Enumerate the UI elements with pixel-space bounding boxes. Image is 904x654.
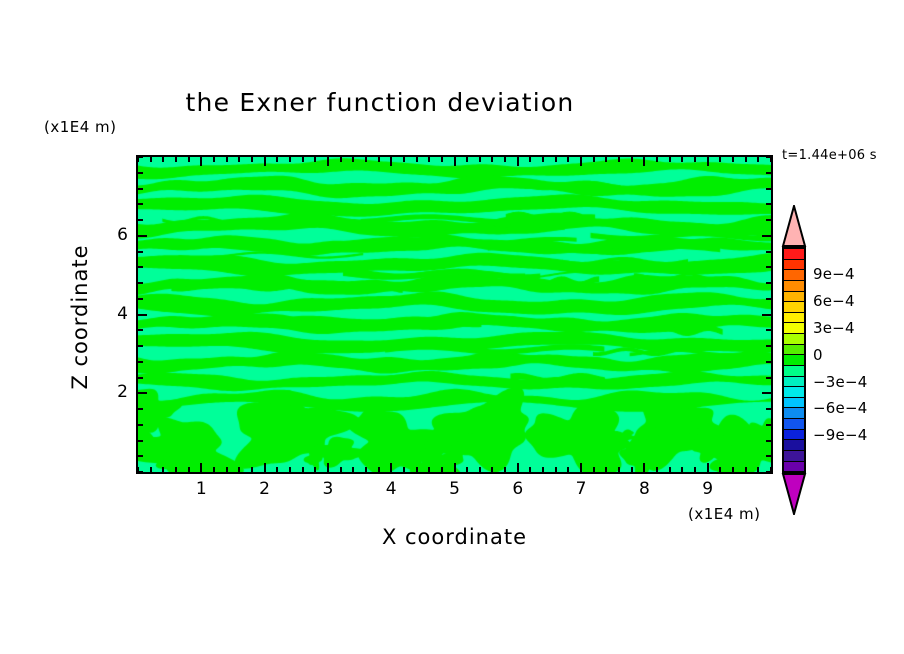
y-tick-minor xyxy=(766,408,771,410)
x-tick-minor xyxy=(542,467,544,472)
y-tick-minor xyxy=(138,298,143,300)
x-tick-major xyxy=(200,157,202,166)
x-tick-label: 8 xyxy=(624,479,664,499)
x-tick-minor xyxy=(428,157,430,162)
y-tick-minor xyxy=(766,188,771,190)
colorbar-band xyxy=(784,377,804,388)
x-tick-minor xyxy=(428,467,430,472)
x-tick-minor xyxy=(567,467,569,472)
x-tick-minor xyxy=(757,467,759,472)
contour-field-canvas xyxy=(138,157,771,472)
x-tick-minor xyxy=(403,467,405,472)
x-tick-major xyxy=(643,463,645,472)
x-tick-minor xyxy=(466,157,468,162)
x-tick-minor xyxy=(441,467,443,472)
x-tick-minor xyxy=(504,157,506,162)
colorbar-band xyxy=(784,292,804,303)
x-tick-label: 7 xyxy=(561,479,601,499)
x-tick-minor xyxy=(555,157,557,162)
y-tick-minor xyxy=(138,172,143,174)
x-tick-minor xyxy=(669,467,671,472)
x-tick-minor xyxy=(188,157,190,162)
x-tick-minor xyxy=(289,157,291,162)
x-tick-minor xyxy=(365,467,367,472)
y-tick-label: 6 xyxy=(88,225,128,245)
x-tick-minor xyxy=(238,467,240,472)
y-tick-minor xyxy=(138,156,143,158)
y-tick-minor xyxy=(138,266,143,268)
x-tick-minor xyxy=(757,157,759,162)
x-tick-minor xyxy=(213,157,215,162)
y-tick-minor xyxy=(138,282,143,284)
x-tick-minor xyxy=(593,157,595,162)
x-tick-minor xyxy=(188,467,190,472)
x-tick-major xyxy=(327,157,329,166)
colorbar-band xyxy=(784,387,804,398)
x-tick-minor xyxy=(631,157,633,162)
y-tick-major xyxy=(138,314,147,316)
y-tick-minor xyxy=(766,377,771,379)
x-tick-minor xyxy=(276,157,278,162)
y-tick-minor xyxy=(766,282,771,284)
x-axis-unit-label: (x1E4 m) xyxy=(688,505,761,523)
x-tick-minor xyxy=(276,467,278,472)
colorbar-band xyxy=(784,398,804,409)
x-tick-minor xyxy=(302,467,304,472)
x-tick-major xyxy=(264,463,266,472)
x-tick-minor xyxy=(162,157,164,162)
x-tick-minor xyxy=(656,467,658,472)
y-tick-major xyxy=(138,235,147,237)
timestamp-label: t=1.44e+06 s xyxy=(782,148,877,163)
x-tick-label: 1 xyxy=(181,479,221,499)
y-tick-minor xyxy=(766,329,771,331)
y-tick-minor xyxy=(138,203,143,205)
x-tick-minor xyxy=(441,157,443,162)
x-tick-minor xyxy=(213,467,215,472)
x-tick-minor xyxy=(732,157,734,162)
y-tick-label: 2 xyxy=(88,382,128,402)
x-tick-major xyxy=(264,157,266,166)
colorbar-band xyxy=(784,270,804,281)
y-tick-minor xyxy=(766,440,771,442)
colorbar-band xyxy=(784,462,804,472)
colorbar-band xyxy=(784,430,804,441)
colorbar: 9e−46e−43e−40−3e−4−6e−4−9e−4 xyxy=(781,205,807,515)
x-tick-minor xyxy=(314,157,316,162)
x-tick-minor xyxy=(416,157,418,162)
x-tick-minor xyxy=(479,157,481,162)
x-tick-minor xyxy=(631,467,633,472)
x-tick-minor xyxy=(555,467,557,472)
y-tick-minor xyxy=(766,203,771,205)
x-tick-minor xyxy=(618,467,620,472)
y-tick-minor xyxy=(766,156,771,158)
y-axis-unit-label: (x1E4 m) xyxy=(44,118,117,136)
colorbar-tick-label: 6e−4 xyxy=(813,292,855,310)
colorbar-band xyxy=(784,355,804,366)
figure-root: the Exner function deviation (x1E4 m) (x… xyxy=(0,0,904,654)
y-tick-minor xyxy=(766,298,771,300)
y-tick-minor xyxy=(766,424,771,426)
y-tick-minor xyxy=(138,329,143,331)
y-tick-minor xyxy=(138,251,143,253)
colorbar-tick-label: 9e−4 xyxy=(813,265,855,283)
colorbar-band xyxy=(784,334,804,345)
y-tick-minor xyxy=(138,424,143,426)
colorbar-bands xyxy=(782,247,806,473)
x-tick-major xyxy=(517,463,519,472)
x-tick-minor xyxy=(745,157,747,162)
x-tick-major xyxy=(643,157,645,166)
x-tick-label: 3 xyxy=(308,479,348,499)
x-tick-minor xyxy=(238,157,240,162)
colorbar-tick-label: 3e−4 xyxy=(813,319,855,337)
x-tick-minor xyxy=(479,467,481,472)
x-tick-major xyxy=(580,463,582,472)
y-tick-minor xyxy=(766,219,771,221)
x-tick-minor xyxy=(529,157,531,162)
colorbar-band xyxy=(784,440,804,451)
y-tick-label: 4 xyxy=(88,304,128,324)
y-tick-minor xyxy=(138,440,143,442)
x-tick-minor xyxy=(618,157,620,162)
page-title: the Exner function deviation xyxy=(0,88,760,117)
x-tick-minor xyxy=(302,157,304,162)
colorbar-band xyxy=(784,323,804,334)
colorbar-band xyxy=(784,345,804,356)
x-tick-minor xyxy=(352,157,354,162)
plot-area xyxy=(136,155,773,474)
x-tick-label: 5 xyxy=(435,479,475,499)
colorbar-band xyxy=(784,281,804,292)
x-tick-minor xyxy=(251,467,253,472)
x-tick-minor xyxy=(529,467,531,472)
y-tick-minor xyxy=(138,408,143,410)
x-tick-major xyxy=(707,157,709,166)
y-tick-minor xyxy=(766,266,771,268)
x-tick-minor xyxy=(681,467,683,472)
x-tick-minor xyxy=(656,157,658,162)
y-tick-minor xyxy=(138,361,143,363)
x-tick-minor xyxy=(466,467,468,472)
y-tick-minor xyxy=(766,251,771,253)
y-tick-minor xyxy=(138,188,143,190)
colorbar-band xyxy=(784,260,804,271)
colorbar-band xyxy=(784,302,804,313)
x-tick-minor xyxy=(226,467,228,472)
colorbar-top-arrow-icon xyxy=(781,205,807,247)
x-tick-minor xyxy=(150,157,152,162)
x-tick-minor xyxy=(340,467,342,472)
x-axis-title: X coordinate xyxy=(136,525,773,549)
x-tick-minor xyxy=(150,467,152,472)
x-tick-minor xyxy=(732,467,734,472)
x-tick-major xyxy=(707,463,709,472)
x-tick-minor xyxy=(289,467,291,472)
x-tick-label: 6 xyxy=(498,479,538,499)
x-tick-minor xyxy=(314,467,316,472)
x-tick-minor xyxy=(378,467,380,472)
x-tick-minor xyxy=(491,157,493,162)
x-tick-major xyxy=(390,157,392,166)
x-tick-label: 4 xyxy=(371,479,411,499)
colorbar-tick-label: −6e−4 xyxy=(813,399,867,417)
x-tick-minor xyxy=(416,467,418,472)
colorbar-bottom-arrow-icon xyxy=(781,473,807,515)
colorbar-band xyxy=(784,419,804,430)
x-tick-label: 9 xyxy=(688,479,728,499)
x-tick-minor xyxy=(542,157,544,162)
x-tick-minor xyxy=(403,157,405,162)
x-tick-minor xyxy=(745,467,747,472)
colorbar-band xyxy=(784,408,804,419)
y-tick-major xyxy=(138,392,147,394)
y-tick-minor xyxy=(138,219,143,221)
colorbar-band xyxy=(784,366,804,377)
x-tick-major xyxy=(580,157,582,166)
y-tick-minor xyxy=(138,471,143,473)
x-tick-minor xyxy=(162,467,164,472)
x-tick-major xyxy=(517,157,519,166)
x-tick-minor xyxy=(567,157,569,162)
x-tick-minor xyxy=(251,157,253,162)
x-tick-minor xyxy=(719,157,721,162)
x-tick-minor xyxy=(694,467,696,472)
x-tick-minor xyxy=(365,157,367,162)
y-tick-minor xyxy=(766,361,771,363)
x-tick-minor xyxy=(605,157,607,162)
x-tick-minor xyxy=(175,467,177,472)
x-tick-minor xyxy=(694,157,696,162)
y-tick-minor xyxy=(138,455,143,457)
y-tick-major xyxy=(762,392,771,394)
colorbar-tick-label: −9e−4 xyxy=(813,426,867,444)
y-tick-minor xyxy=(766,345,771,347)
y-tick-major xyxy=(762,314,771,316)
x-tick-minor xyxy=(719,467,721,472)
colorbar-band xyxy=(784,249,804,260)
x-tick-minor xyxy=(378,157,380,162)
colorbar-band xyxy=(784,313,804,324)
colorbar-band xyxy=(784,451,804,462)
x-tick-major xyxy=(454,463,456,472)
y-tick-major xyxy=(762,235,771,237)
x-tick-minor xyxy=(175,157,177,162)
x-tick-minor xyxy=(352,467,354,472)
y-tick-minor xyxy=(138,377,143,379)
y-tick-minor xyxy=(766,455,771,457)
x-tick-major xyxy=(454,157,456,166)
y-tick-minor xyxy=(766,172,771,174)
x-tick-minor xyxy=(593,467,595,472)
x-tick-minor xyxy=(681,157,683,162)
x-tick-label: 2 xyxy=(245,479,285,499)
x-tick-minor xyxy=(605,467,607,472)
x-tick-major xyxy=(200,463,202,472)
y-tick-minor xyxy=(138,345,143,347)
y-axis-title: Z coordinate xyxy=(68,197,92,437)
x-tick-minor xyxy=(491,467,493,472)
x-tick-major xyxy=(327,463,329,472)
y-tick-minor xyxy=(766,471,771,473)
x-tick-minor xyxy=(226,157,228,162)
x-tick-major xyxy=(390,463,392,472)
x-tick-minor xyxy=(504,467,506,472)
colorbar-tick-label: −3e−4 xyxy=(813,373,867,391)
colorbar-tick-label: 0 xyxy=(813,346,823,364)
x-tick-minor xyxy=(669,157,671,162)
x-tick-minor xyxy=(340,157,342,162)
